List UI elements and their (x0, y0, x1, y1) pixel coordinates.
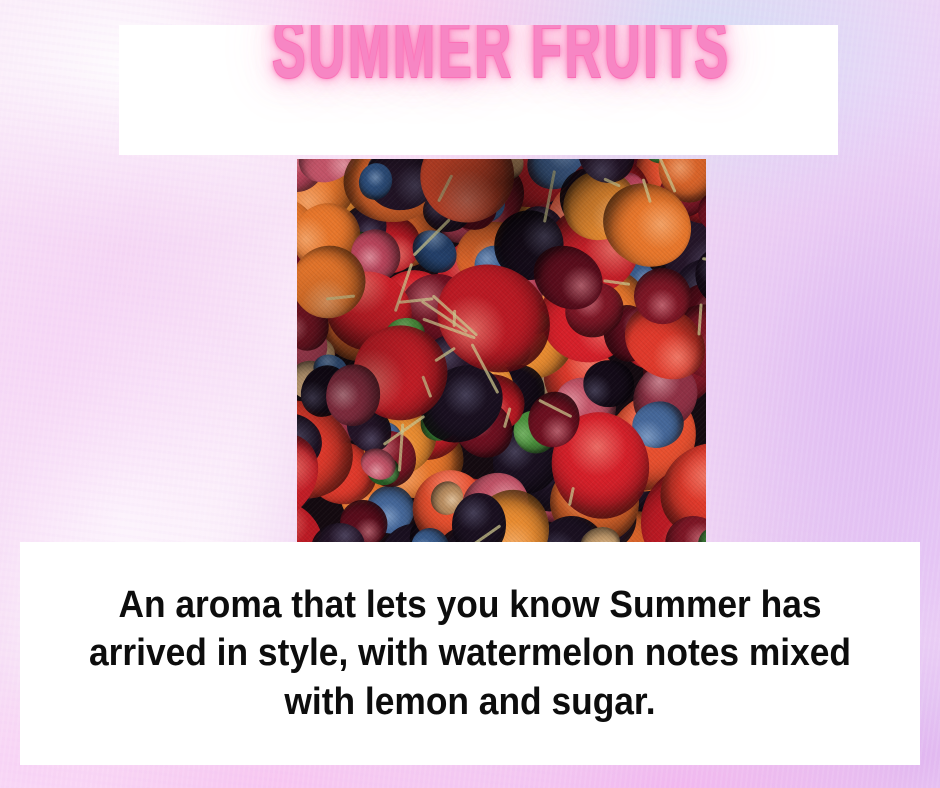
caption-band: An aroma that lets you know Summer has a… (20, 542, 920, 765)
fruit-photo (297, 159, 706, 545)
title-band: SUMMER FRUITS (119, 25, 838, 155)
poster-title-wrapper: SUMMER FRUITS (119, 48, 838, 132)
berry-blackberry (583, 360, 634, 407)
poster-caption: An aroma that lets you know Summer has a… (70, 581, 870, 727)
fruit-photo-canvas (297, 159, 706, 545)
poster-canvas: SUMMER FRUITS An aroma that lets you kno… (0, 0, 940, 788)
page-title: SUMMER FRUITS (272, 25, 731, 90)
berry-stem (452, 310, 456, 327)
